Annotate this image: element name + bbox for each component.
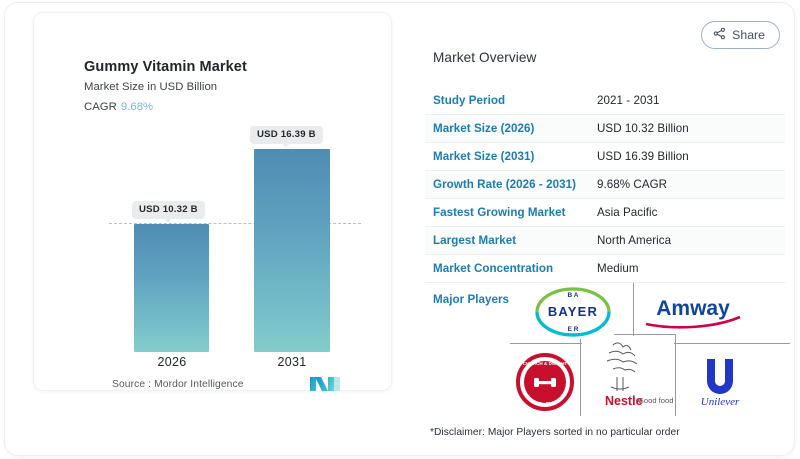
- bar-label-2031: USD 16.39 B: [250, 126, 323, 144]
- disclaimer-text: *Disclaimer: Major Players sorted in no …: [430, 427, 680, 438]
- bar-label-2026: USD 10.32 B: [132, 201, 205, 219]
- svg-text:CHURCH & DWIGHT: CHURCH & DWIGHT: [523, 361, 568, 366]
- row-value: Medium: [597, 262, 639, 275]
- share-button[interactable]: Share: [701, 21, 780, 49]
- chart-subtitle: Market Size in USD Billion: [84, 81, 217, 93]
- page-card: Gummy Vitamin Market Market Size in USD …: [4, 2, 795, 456]
- svg-text:CO., INC.: CO., INC.: [535, 401, 555, 406]
- table-row: Growth Rate (2026 - 2031) 9.68% CAGR: [425, 171, 785, 199]
- unilever-logo: Unilever: [685, 351, 755, 413]
- row-value: USD 16.39 Billion: [597, 150, 689, 163]
- major-players-logos: BAYER B A E R Amway CHURCH & DWIGHT C: [510, 281, 790, 416]
- table-row: Largest Market North America: [425, 227, 785, 255]
- row-key: Study Period: [425, 94, 597, 107]
- chart-card: Gummy Vitamin Market Market Size in USD …: [33, 12, 392, 391]
- logo-divider-vertical-bottom-right: [675, 334, 676, 416]
- overview-title: Market Overview: [433, 50, 536, 65]
- amway-logo: Amway: [638, 291, 748, 333]
- svg-text:Amway: Amway: [656, 297, 730, 320]
- x-tick-2031: 2031: [242, 355, 342, 369]
- row-key: Market Size (2031): [425, 150, 597, 163]
- svg-text:Nestle: Nestle: [605, 394, 643, 408]
- row-key: Market Concentration: [425, 262, 597, 275]
- bar-2026[interactable]: [134, 224, 209, 352]
- bar-chart-plot: USD 10.32 B USD 16.39 B 2026 2031: [62, 123, 392, 358]
- share-icon: [713, 27, 726, 43]
- svg-text:B A: B A: [568, 292, 579, 299]
- row-key: Growth Rate (2026 - 2031): [425, 178, 597, 191]
- share-label: Share: [732, 28, 765, 42]
- major-players-label: Major Players: [425, 293, 509, 306]
- bar-2031[interactable]: [254, 149, 330, 352]
- chart-cagr: CAGR9.68%: [84, 101, 153, 113]
- cagr-value: 9.68%: [121, 101, 153, 113]
- row-key: Fastest Growing Market: [425, 206, 597, 219]
- table-row: Market Size (2026) USD 10.32 Billion: [425, 115, 785, 143]
- row-value: 9.68% CAGR: [597, 178, 667, 191]
- row-key: Largest Market: [425, 234, 597, 247]
- row-value: 2021 - 2031: [597, 94, 659, 107]
- chart-title: Gummy Vitamin Market: [84, 59, 247, 75]
- church-and-dwight-logo: CHURCH & DWIGHT CO., INC.: [514, 351, 576, 413]
- screenshot-root: Gummy Vitamin Market Market Size in USD …: [0, 0, 800, 459]
- nestle-logo: Nestle Good food, Good life: [582, 336, 674, 414]
- chart-source: Source : Mordor Intelligence: [112, 379, 244, 390]
- svg-text:Unilever: Unilever: [701, 396, 740, 408]
- x-tick-2026: 2026: [122, 355, 222, 369]
- table-row: Market Size (2031) USD 16.39 Billion: [425, 143, 785, 171]
- logo-divider-vertical-bottom-left: [580, 334, 581, 416]
- cagr-label: CAGR: [84, 101, 117, 113]
- row-value: Asia Pacific: [597, 206, 658, 219]
- svg-text:Good food, Good life: Good food, Good life: [638, 396, 673, 405]
- row-value: USD 10.32 Billion: [597, 122, 689, 135]
- bayer-logo: BAYER B A E R: [532, 285, 614, 339]
- row-key: Market Size (2026): [425, 122, 597, 135]
- svg-text:BAYER: BAYER: [548, 304, 598, 319]
- table-row: Study Period 2021 - 2031: [425, 87, 785, 115]
- table-row: Fastest Growing Market Asia Pacific: [425, 199, 785, 227]
- mordor-intelligence-logo: [310, 376, 344, 392]
- row-value: North America: [597, 234, 671, 247]
- svg-text:E R: E R: [568, 326, 579, 333]
- table-row: Market Concentration Medium: [425, 255, 785, 283]
